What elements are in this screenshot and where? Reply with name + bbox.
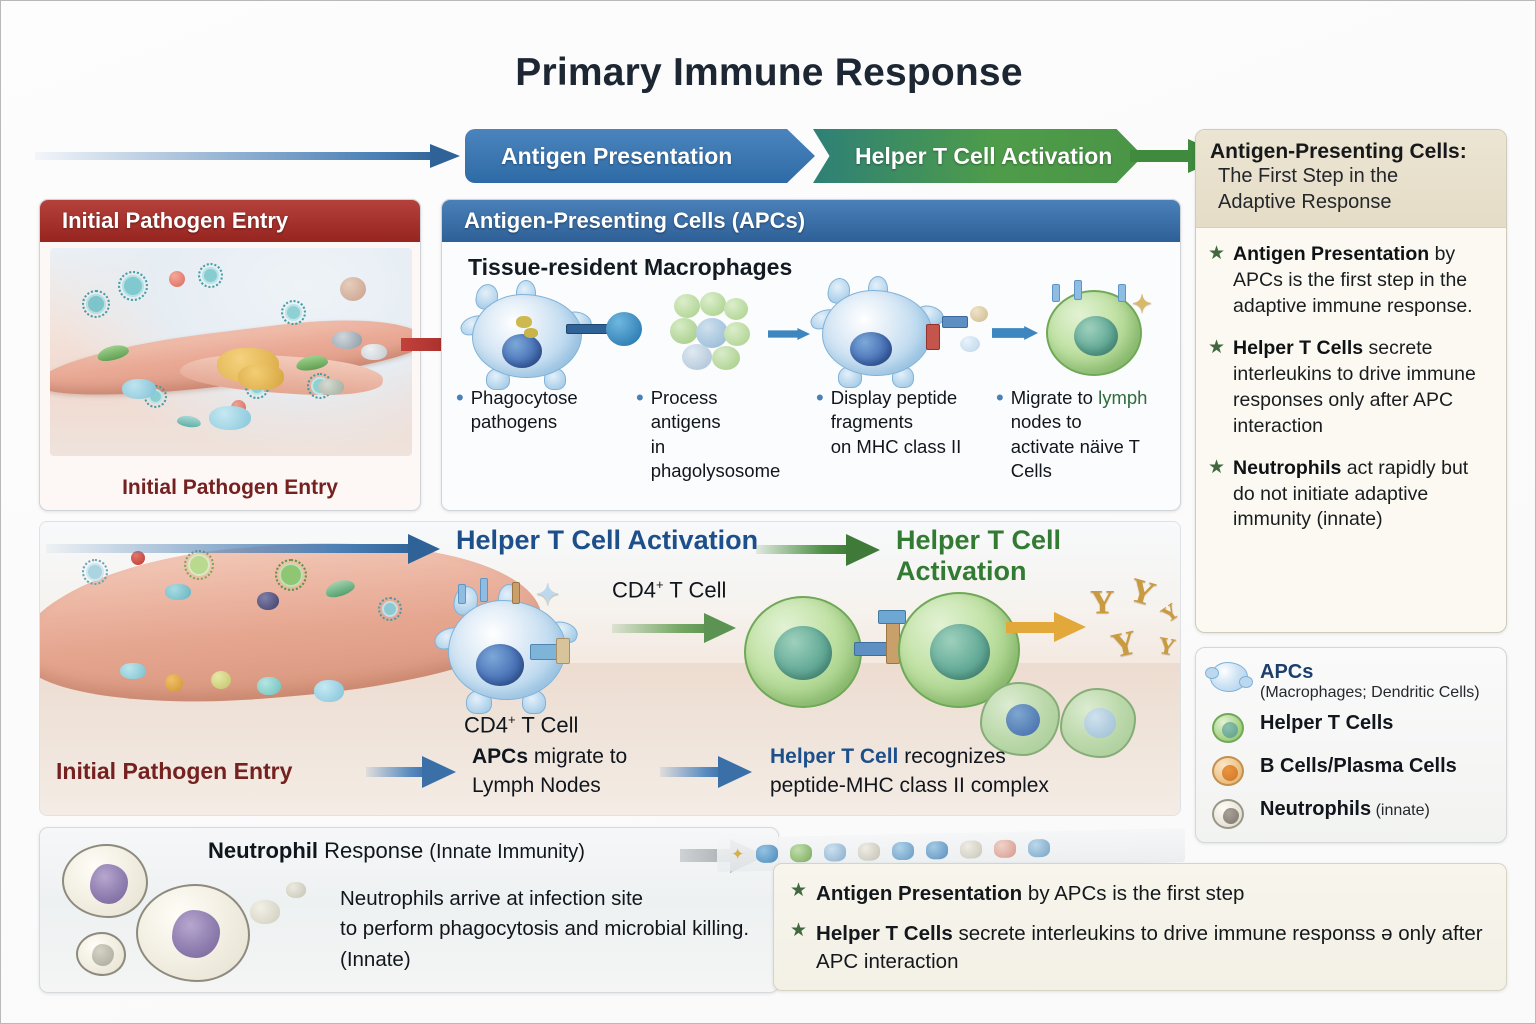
pathogen-panel-header: Initial Pathogen Entry — [40, 200, 420, 242]
lymph-node-icon-2 — [1060, 688, 1136, 758]
legend-sub-apcs: (Macrophages; Dendritic Cells) — [1260, 684, 1480, 702]
apc-bullet-2-line1: Process — [651, 387, 718, 408]
bacterium-icon-5 — [892, 842, 914, 860]
bacterium-icon-4 — [858, 842, 880, 860]
legend-label-b-cells: B Cells/Plasma Cells — [1260, 755, 1457, 777]
neutrophil-panel-title: Neutrophil Response (Innate Immunity) — [208, 838, 585, 864]
apc-bullet-1: • Phagocytose pathogens — [456, 386, 632, 484]
apc-bullet-2-line4: phagolysosome — [651, 460, 781, 481]
key-points-list: ★ Antigen Presentation by APCs is the fi… — [1196, 228, 1506, 533]
macrophage-cell-icon — [472, 294, 582, 378]
arrow-activation-green-icon — [756, 539, 886, 561]
apc-bullet-1-line2: pathogens — [471, 411, 557, 432]
pathogen-entry-illustration — [50, 248, 412, 456]
neutrophil-cell-icon-2 — [136, 884, 250, 982]
star-bullet-icon: ★ — [1208, 336, 1225, 440]
apc-bullet-1-line1: Phagocytose — [471, 387, 578, 408]
arrow-to-helper-t-activation-icon — [46, 538, 446, 560]
bacterium-icon-7 — [960, 840, 982, 858]
key-points-title-line2: The First Step in the — [1210, 164, 1492, 190]
helper-t-cell-activation-label-blue: Helper T Cell Activation — [456, 525, 758, 556]
peptide-mhc-complex-icon — [854, 642, 890, 656]
key-point-item-2: ★ Helper T Cells secrete interleukins to… — [1208, 336, 1492, 440]
apc-panel-subtitle: Tissue-resident Macrophages — [468, 254, 792, 281]
cytokine-star-icon: ✦ — [536, 578, 559, 612]
helper-t-cell-icon-1 — [744, 596, 862, 708]
flow-stage-1-label: Antigen Presentation — [501, 143, 732, 170]
helper-t-recognizes-text: Helper T Cell recognizes peptide-MHC cla… — [770, 743, 1049, 801]
apc-bullet-3-line1: Display peptide — [831, 387, 958, 408]
apc-cell-icon — [1208, 660, 1250, 694]
bacterium-icon-3 — [824, 843, 846, 861]
apc-panel-header: Antigen-Presenting Cells (APCs) — [442, 200, 1180, 242]
legend-label-apcs: APCs — [1260, 661, 1313, 683]
bullet-dot-icon: • — [996, 386, 1004, 484]
legend-row-neutrophils: Neutrophils (innate) — [1208, 797, 1496, 831]
star-bullet-icon: ★ — [1208, 456, 1225, 534]
apc-bullet-list: • Phagocytose pathogens • Process antige… — [456, 386, 1172, 484]
legend-row-helper-t-cells: Helper T Cells — [1208, 711, 1496, 745]
apc-bullet-3: • Display peptide fragments on MHC class… — [816, 386, 992, 484]
key-point-item-3: ★ Neutrophils act rapidly but do not ini… — [1208, 456, 1492, 534]
apc-bullet-2: • Process antigens in phagolysosome — [636, 386, 812, 484]
apc-bullet-4-line2: nodes to — [1011, 411, 1082, 432]
apc-bullet-4-line3: activate näive T Cells — [1011, 436, 1140, 481]
initial-pathogen-entry-label-mid: Initial Pathogen Entry — [56, 758, 292, 785]
star-bullet-icon: ★ — [790, 920, 807, 975]
apc-bullet-2-line3: in — [651, 436, 665, 457]
key-points-title-line1: Antigen-Presenting Cells: — [1210, 140, 1492, 164]
neutrophil-cell-icon-1 — [62, 844, 148, 918]
bacterium-icon-9 — [1028, 839, 1050, 857]
legend-label-neutrophils: Neutrophils — [1260, 798, 1371, 820]
macrophage-displaying-mhc-icon — [822, 290, 932, 376]
helper-t-cell-icon — [1208, 711, 1250, 745]
antibody-icon-3: Y — [1108, 624, 1140, 666]
diagram-canvas: Primary Immune Response Antigen Presenta… — [0, 0, 1536, 1024]
phagolysosome-illustration — [666, 292, 762, 376]
antibody-icon-4: Y — [1156, 598, 1181, 628]
flow-stage-2-label: Helper T Cell Activation — [855, 143, 1112, 170]
arrow-migrate-to-recognize-icon — [660, 761, 760, 783]
arrow-apc-to-tcell-icon — [612, 618, 742, 638]
star-bullet-icon: ★ — [1208, 242, 1225, 320]
summary-item-1: ★ Antigen Presentation by APCs is the fi… — [790, 880, 1488, 907]
antigen-presenting-cells-panel: Antigen-Presenting Cells (APCs) Tissue-r… — [441, 199, 1181, 511]
apc-bullet-4-line1b: lymph — [1098, 387, 1147, 408]
naive-t-cell-icon — [1046, 290, 1142, 376]
legend-label-helper-t-cells: Helper T Cells — [1260, 712, 1393, 734]
bacterium-icon-6 — [926, 841, 948, 859]
apc-bullet-2-line2: antigens — [651, 411, 721, 432]
arrow-ipe-to-apcmigrate-icon — [366, 761, 462, 783]
flow-arrow-intro-icon — [35, 146, 465, 166]
arrow-to-antibodies-icon — [1006, 616, 1092, 638]
neutrophil-panel-body: Neutrophils arrive at infection site to … — [340, 884, 770, 975]
neutrophil-response-panel: Neutrophil Response (Innate Immunity) Ne… — [39, 827, 779, 993]
apc-bullet-3-line2: fragments — [831, 411, 913, 432]
page-title: Primary Immune Response — [1, 51, 1536, 95]
b-cell-icon — [1208, 754, 1250, 788]
flow-stage-antigen-presentation[interactable]: Antigen Presentation — [465, 129, 815, 183]
key-points-title-line3: Adaptive Response — [1210, 190, 1492, 216]
bullet-dot-icon: • — [816, 386, 824, 484]
legend-panel: APCs (Macrophages; Dendritic Cells) Help… — [1195, 647, 1507, 843]
neutrophil-icon — [1208, 797, 1250, 831]
pathogen-panel-caption: Initial Pathogen Entry — [40, 476, 420, 500]
apc-bullet-4-line1: Migrate to — [1011, 387, 1093, 408]
initial-pathogen-entry-panel: Initial Pathogen Entry Initial P — [39, 199, 421, 511]
summary-item-2: ★ Helper T Cells secrete interleukins to… — [790, 920, 1488, 975]
legend-row-b-cells: B Cells/Plasma Cells — [1208, 754, 1496, 788]
neutrophil-cell-icon-3 — [76, 932, 126, 976]
cd4-t-cell-label-bottom: CD4+ T Cell — [464, 712, 578, 738]
cd4-t-cell-label-top: CD4+ T Cell — [612, 577, 726, 603]
helper-t-cell-activation-band: Helper T Cell Activation Helper T Cell A… — [39, 521, 1181, 816]
bacterium-icon-2 — [790, 844, 812, 862]
summary-panel: ★ Antigen Presentation by APCs is the fi… — [773, 863, 1507, 991]
process-flow-banner: Antigen Presentation Helper T Cell Activ… — [35, 129, 1175, 183]
antibody-icon-1: Y — [1090, 584, 1115, 622]
legend-row-apcs: APCs (Macrophages; Dendritic Cells) — [1208, 660, 1496, 702]
key-point-item-1: ★ Antigen Presentation by APCs is the fi… — [1208, 242, 1492, 320]
flow-stage-helper-t-cell-activation[interactable]: Helper T Cell Activation — [813, 129, 1143, 183]
apc-process-illustration: ✦ — [456, 288, 1168, 380]
apc-bullet-3-line3: on MHC class II — [831, 436, 962, 457]
apc-migrate-text: APCs migrate to Lymph Nodes — [472, 743, 627, 801]
key-points-header: Antigen-Presenting Cells: The First Step… — [1196, 130, 1506, 228]
bullet-dot-icon: • — [456, 386, 464, 484]
apc-bullet-4: • Migrate to lymph nodes to activate näi… — [996, 386, 1172, 484]
star-bullet-icon: ★ — [790, 880, 807, 907]
antibody-icon-5: Y — [1156, 633, 1178, 663]
star-icon: ✦ — [731, 844, 744, 864]
legend-sub-neutrophils: (innate) — [1371, 802, 1430, 819]
key-points-panel: Antigen-Presenting Cells: The First Step… — [1195, 129, 1507, 633]
bacterium-icon-8 — [994, 840, 1016, 858]
bacterium-icon-1 — [756, 845, 778, 863]
bullet-dot-icon: • — [636, 386, 644, 484]
